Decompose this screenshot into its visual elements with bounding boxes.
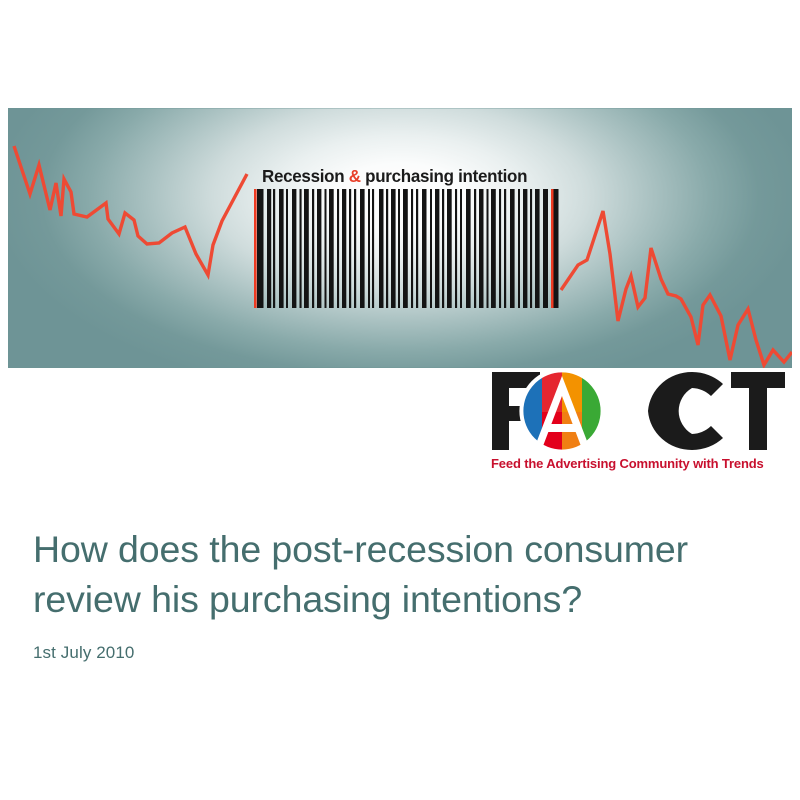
barcode-guide-right xyxy=(551,189,554,308)
logo-circle-mark xyxy=(521,370,602,454)
page-title: How does the post-recession consumer rev… xyxy=(33,524,763,624)
barcode-label: Recession & purchasing intention xyxy=(262,163,541,189)
declining-line-right xyxy=(561,211,792,365)
barcode-bar-group xyxy=(257,189,559,308)
fact-wordmark xyxy=(488,368,788,454)
hero-banner: Recession & purchasing intention xyxy=(8,108,792,368)
title-block: How does the post-recession consumer rev… xyxy=(33,524,763,664)
logo-letter-c xyxy=(648,372,723,450)
barcode-bars xyxy=(248,189,560,308)
slide-root: Recession & purchasing intention xyxy=(0,0,800,800)
barcode-label-ampersand: & xyxy=(349,166,361,186)
page-title-line-1: How does the post-recession consumer xyxy=(33,528,688,570)
barcode-graphic: Recession & purchasing intention xyxy=(248,163,560,308)
logo-letter-t xyxy=(731,372,785,450)
declining-line-left xyxy=(14,146,247,275)
slide-date: 1st July 2010 xyxy=(33,642,763,664)
logo-tagline: Feed the Advertising Community with Tren… xyxy=(491,455,784,473)
barcode-label-part-1: Recession xyxy=(262,166,349,186)
fact-logo: Feed the Advertising Community with Tren… xyxy=(488,368,788,480)
barcode-label-part-2: purchasing intention xyxy=(361,166,527,186)
barcode-guide-left xyxy=(254,189,257,308)
page-title-line-2: review his purchasing intentions? xyxy=(33,578,582,620)
